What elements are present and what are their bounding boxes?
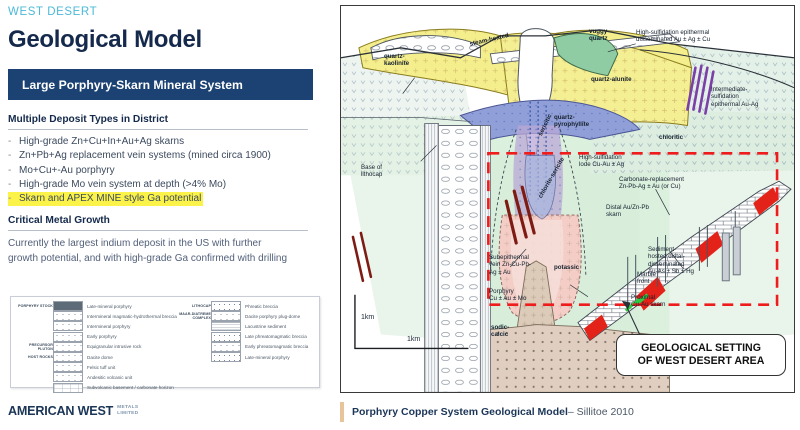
bullet-text: Zn+Pb+Ag replacement vein systems (mined… <box>19 149 271 163</box>
deposit-bullet: -High-grade Zn+Cu+In+Au+Ag skarns <box>8 135 328 149</box>
legend-swatch <box>211 301 241 311</box>
logo-subtitle: METALS LIMITED <box>117 405 138 418</box>
diagram-label: potassic <box>554 264 579 271</box>
banner-bar: Large Porphyry-Skarn Mineral System <box>8 69 313 100</box>
bullet-dash: - <box>8 149 19 163</box>
deposit-bullet: -Skarn and APEX MINE style Ga potential <box>8 192 203 206</box>
legend-swatch <box>53 301 83 311</box>
legend-row: Late phreatomagmatic breccia <box>171 332 308 342</box>
divider <box>8 230 308 231</box>
legend-row: Intermineral porphyry <box>13 321 177 331</box>
bullet-dash: - <box>8 192 19 206</box>
bullet-text: High-grade Mo vein system at depth (>4% … <box>19 178 226 192</box>
legend-row: HOST ROCKSDacite dome <box>13 352 177 362</box>
bullet-text: Skarn and APEX MINE style Ga potential <box>19 192 201 206</box>
diagram-label: Subepithermal vein Zn-Cu-Pb- Ag ± Au <box>489 254 531 276</box>
legend-column-right: LITHOCAPPhreatic brecciaMAAR-DIATREME CO… <box>171 301 308 362</box>
diagram-label: quartz- pyrophyllite <box>554 114 589 129</box>
legend-swatch <box>53 362 83 372</box>
legend-swatch <box>211 311 241 321</box>
diagram-label: sodic- calcic <box>491 324 509 339</box>
legend-swatch <box>211 321 241 331</box>
deposit-bullet: -High-grade Mo vein system at depth (>4%… <box>8 178 328 192</box>
callout-line-2: OF WEST DESERT AREA <box>638 355 765 368</box>
legend-item-label: Equigranular intrusive rock <box>87 344 141 349</box>
legend-item-label: Subvolcanic basement / carbonate horizon <box>87 385 174 390</box>
legend-group-label: HOST ROCKS <box>13 355 53 359</box>
caption-title: Porphyry Copper System Geological Model <box>352 406 568 418</box>
diagram-label: Distal Au/Zn-Pb skarn <box>606 204 649 219</box>
figure-caption: Porphyry Copper System Geological Model … <box>340 402 795 422</box>
diagram-label: Porphyry Cu ± Au ± Mo <box>489 288 526 303</box>
legend-swatch <box>211 332 241 342</box>
legend-row: Subvolcanic basement / carbonate horizon <box>13 383 177 393</box>
bullet-dash: - <box>8 178 19 192</box>
legend-item-label: Phreatic breccia <box>245 304 278 309</box>
divider <box>8 129 308 130</box>
deposit-bullet: -Mo+Cu+-Au porphyry <box>8 164 328 178</box>
diagram-label: Proximal Cu-Au skarn <box>631 294 665 309</box>
legend-row: PRECURSOR PLUTONEquigranular intrusive r… <box>13 342 177 352</box>
legend-item-label: Felsic tuff unit <box>87 365 115 370</box>
legend-group-label: LITHOCAP <box>171 304 211 308</box>
scale-label-vertical: 1km <box>361 314 374 322</box>
legend-item-label: Late phreatomagmatic breccia <box>245 334 307 339</box>
bullet-dash: - <box>8 164 19 178</box>
section-heading-growth: Critical Metal Growth <box>8 215 328 226</box>
logo-sub-limited: LIMITED <box>117 411 138 417</box>
legend-item-label: Lacustrine sediment <box>245 324 286 329</box>
page-title: Geological Model <box>8 27 328 52</box>
company-logo: AMERICAN WEST METALS LIMITED <box>8 404 138 418</box>
legend-row: Early porphyry <box>13 332 177 342</box>
legend-item-label: Late-mineral porphyry <box>87 304 132 309</box>
diagram-label: chloritic <box>659 134 683 141</box>
legend-row: MAAR-DIATREME COMPLEXDacite porphyry plu… <box>171 311 308 321</box>
slide-root: WEST DESERT Geological Model Large Porph… <box>0 0 800 430</box>
legend-group-label: MAAR-DIATREME COMPLEX <box>171 312 211 320</box>
legend-row: Andesitic volcanic unit <box>13 372 177 382</box>
eyebrow-label: WEST DESERT <box>8 6 328 18</box>
legend-row: PORPHYRY STOCKLate-mineral porphyry <box>13 301 177 311</box>
legend-swatch <box>211 352 241 362</box>
lithology-legend: PORPHYRY STOCKLate-mineral porphyryInter… <box>10 296 320 388</box>
diagram-label: Marble front <box>637 271 656 286</box>
legend-item-label: Early porphyry <box>87 334 117 339</box>
legend-swatch <box>211 342 241 352</box>
callout-line-1: GEOLOGICAL SETTING <box>641 342 761 355</box>
growth-paragraph: Currently the largest indium deposit in … <box>8 237 288 266</box>
bullet-text: Mo+Cu+-Au porphyry <box>19 164 115 178</box>
legend-swatch <box>53 332 83 342</box>
scale-label-horizontal: 1km <box>407 336 420 344</box>
legend-row: Lacustrine sediment <box>171 321 308 331</box>
legend-swatch <box>53 311 83 321</box>
deposit-bullet-list: -High-grade Zn+Cu+In+Au+Ag skarns-Zn+Pb+… <box>8 135 328 206</box>
legend-swatch <box>53 352 83 362</box>
legend-group-label: PRECURSOR PLUTON <box>13 343 53 351</box>
legend-item-label: Dacite dome <box>87 355 113 360</box>
bullet-text: High-grade Zn+Cu+In+Au+Ag skarns <box>19 135 184 149</box>
legend-item-label: Andesitic volcanic unit <box>87 375 132 380</box>
legend-swatch <box>53 321 83 331</box>
legend-group-label: PORPHYRY STOCK <box>13 304 53 308</box>
section-heading-deposits: Multiple Deposit Types in District <box>8 114 328 125</box>
legend-item-label: Intermineral porphyry <box>87 324 130 329</box>
legend-item-label: Late-mineral porphyry <box>245 355 290 360</box>
legend-row: Late-mineral porphyry <box>171 352 308 362</box>
legend-item-label: Intermineral magmatic-hydrothermal brecc… <box>87 314 177 319</box>
legend-item-label: Early phreatomagmatic breccia <box>245 344 308 349</box>
legend-row: LITHOCAPPhreatic breccia <box>171 301 308 311</box>
banner-label: Large Porphyry-Skarn Mineral System <box>22 78 243 92</box>
bullet-dash: - <box>8 135 19 149</box>
diagram-label: Base of lithocap <box>361 164 382 179</box>
diagram-label: Intermediate- sulfidation epithermal Au-… <box>711 86 758 108</box>
diagram-label: vuggy quartz <box>589 28 608 43</box>
deposit-bullet: -Zn+Pb+Ag replacement vein systems (mine… <box>8 149 328 163</box>
legend-swatch <box>53 342 83 352</box>
legend-column-left: PORPHYRY STOCKLate-mineral porphyryInter… <box>13 301 177 393</box>
diagram-label: quartz-alunite <box>591 76 632 83</box>
legend-swatch <box>53 383 83 393</box>
geological-setting-callout: GEOLOGICAL SETTING OF WEST DESERT AREA <box>616 334 786 376</box>
diagram-label: quartz- kaolinite <box>384 53 409 68</box>
legend-row: Early phreatomagmatic breccia <box>171 342 308 352</box>
legend-row: Intermineral magmatic-hydrothermal brecc… <box>13 311 177 321</box>
diagram-label: High-sulfidation lode Cu-Au ± Ag <box>579 154 624 169</box>
legend-item-label: Dacite porphyry plug-dome <box>245 314 300 319</box>
caption-source: – Sillitoe 2010 <box>568 406 634 418</box>
legend-row: Felsic tuff unit <box>13 362 177 372</box>
diagram-label: High-sulfidation epithermal disseminated… <box>636 29 710 44</box>
legend-swatch <box>53 372 83 382</box>
logo-name: AMERICAN WEST <box>8 404 113 418</box>
diagram-label: Carbonate-replacement Zn-Pb-Ag ± Au (or … <box>619 176 684 191</box>
